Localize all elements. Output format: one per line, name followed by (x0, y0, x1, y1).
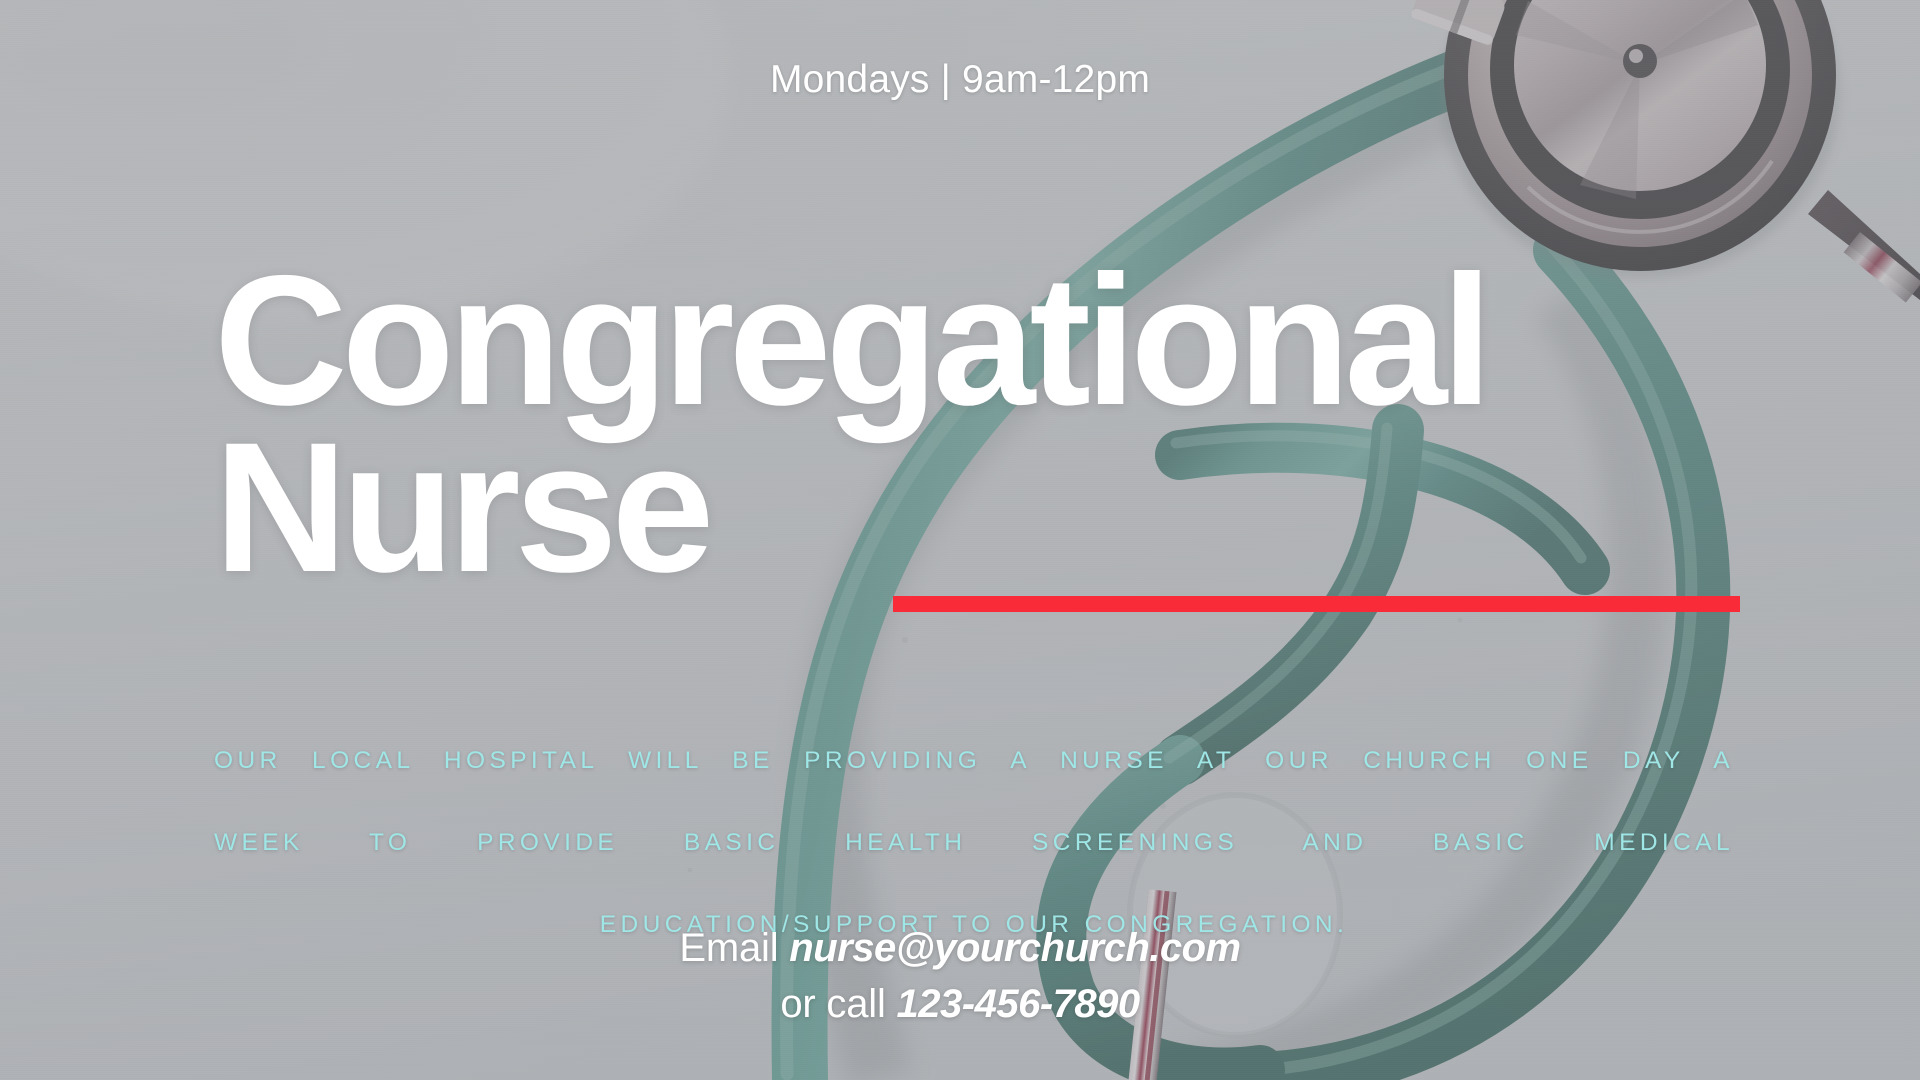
email-address[interactable]: nurse@yourchurch.com (789, 926, 1240, 970)
poster-content: Mondays | 9am-12pm Congregational Nurse … (0, 0, 1920, 1080)
phone-row: or call 123-456-7890 (0, 976, 1920, 1032)
headline-line-1: Congregational (214, 258, 1774, 425)
contact-block: Email nurse@yourchurch.com or call 123-4… (0, 920, 1920, 1032)
page-title: Congregational Nurse (214, 258, 1774, 591)
description-line-2: week to provide basic health screenings … (214, 822, 1734, 904)
description-paragraph: Our local hospital will be providing a n… (214, 740, 1734, 945)
email-row: Email nurse@yourchurch.com (0, 920, 1920, 976)
schedule-text: Mondays | 9am-12pm (0, 58, 1920, 102)
red-accent-rule (893, 596, 1740, 612)
phone-number[interactable]: 123-456-7890 (897, 982, 1140, 1026)
headline-line-2: Nurse (214, 425, 1774, 592)
poster-canvas: Mondays | 9am-12pm Congregational Nurse … (0, 0, 1920, 1080)
email-label: Email (679, 926, 789, 970)
description-line-1: Our local hospital will be providing a n… (214, 740, 1734, 822)
phone-label: or call (780, 982, 896, 1026)
